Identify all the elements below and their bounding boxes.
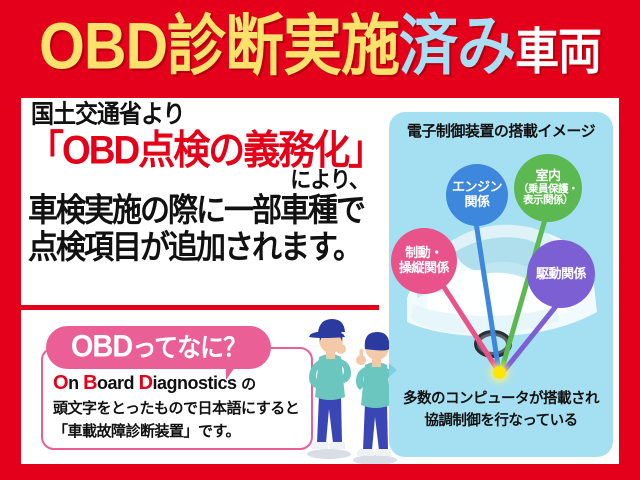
obd-definition-line-1: On Board Diagnostics の xyxy=(53,373,305,393)
label-cabin: 室内 （乗員保護・ 表示関係） xyxy=(514,154,582,222)
content-panel: 国土交通省より 「OBD点検の義務化」 により、 車検実施の際に一部車種で 点検… xyxy=(21,98,619,464)
label-engine-line2: 関係 xyxy=(464,195,489,210)
headline-main: OBD診断実施 xyxy=(39,8,399,82)
headline-mid: 済み xyxy=(399,8,515,82)
header-banner: OBD診断実施済み車両 xyxy=(0,0,640,92)
obd-definition-line-3: 「車載故障診断装置」です。 xyxy=(53,424,305,439)
notice-block: 国土交通省より 「OBD点検の義務化」 により、 車検実施の際に一部車種で 点検… xyxy=(29,102,377,262)
obd-question-bubble: OBDってなに？ xyxy=(46,326,271,369)
ecu-diagram-panel: 電子制御装置の搭載イメージ xyxy=(389,112,613,457)
diagram-caption: 多数のコンピュータが搭載され 協調制御を行なっている xyxy=(389,388,613,433)
label-brake: 制動・ 操縦関係 xyxy=(391,228,457,294)
section-divider xyxy=(21,305,379,310)
obd-question-sub: ってなに？ xyxy=(132,334,246,363)
obd-cap-d: D xyxy=(139,372,153,394)
obd-word-on: n xyxy=(68,373,79,393)
headline-tail: 車両 xyxy=(515,24,601,79)
obd-definition-line-2: 頭文字をとったもので日本語にすると xyxy=(53,401,305,416)
label-engine-line1: エンジン xyxy=(452,180,502,195)
headline: OBD診断実施済み車両 xyxy=(39,13,601,79)
left-column: 国土交通省より 「OBD点検の義務化」 により、 車検実施の際に一部車種で 点検… xyxy=(21,98,379,464)
label-drive: 駆動関係 xyxy=(527,240,595,308)
obd-explainer: OBDってなに？ On Board Diagnostics の 頭文字をとったも… xyxy=(41,326,313,450)
label-brake-line2: 操縦関係 xyxy=(399,261,449,276)
diagram-caption-line-1: 多数のコンピュータが搭載され xyxy=(389,388,613,410)
label-engine: エンジン 関係 xyxy=(446,164,508,226)
obd-word-board: oard xyxy=(97,373,134,393)
obd-question-main: OBD xyxy=(71,330,132,365)
obd-cap-o: O xyxy=(53,372,68,394)
obd-definition-suffix: の xyxy=(241,376,256,393)
obd-inspection-poster: OBD診断実施済み車両 国土交通省より 「OBD点検の義務化」 により、 車検実… xyxy=(0,0,640,480)
obd-word-diagnostics: iagnostics xyxy=(153,373,237,393)
notice-line-1: 国土交通省より xyxy=(31,102,377,127)
diagram-caption-line-2: 協調制御を行なっている xyxy=(389,410,613,432)
notice-line-2-highlight: 「OBD点検の義務化」 xyxy=(27,130,377,170)
label-drive-line1: 駆動関係 xyxy=(536,267,586,282)
notice-line-4: 車検実施の際に一部車種で xyxy=(28,195,377,227)
edge-chevron-icon xyxy=(389,358,397,382)
notice-line-3: により、 xyxy=(29,169,369,192)
label-cabin-line1: 室内 xyxy=(535,169,560,184)
figure1-shadow xyxy=(307,449,351,459)
notice-line-5: 点検項目が追加されます。 xyxy=(28,232,377,264)
ecu-converge-dot-icon xyxy=(493,366,506,379)
obd-definition-text: On Board Diagnostics の 頭文字をとったもので日本語にすると… xyxy=(53,373,305,439)
figure-thinking xyxy=(309,319,351,449)
label-cabin-line3: 表示関係） xyxy=(523,195,573,207)
obd-question-text: OBDってなに？ xyxy=(71,332,246,363)
label-brake-line1: 制動・ xyxy=(405,246,443,261)
obd-cap-b: B xyxy=(83,372,97,394)
